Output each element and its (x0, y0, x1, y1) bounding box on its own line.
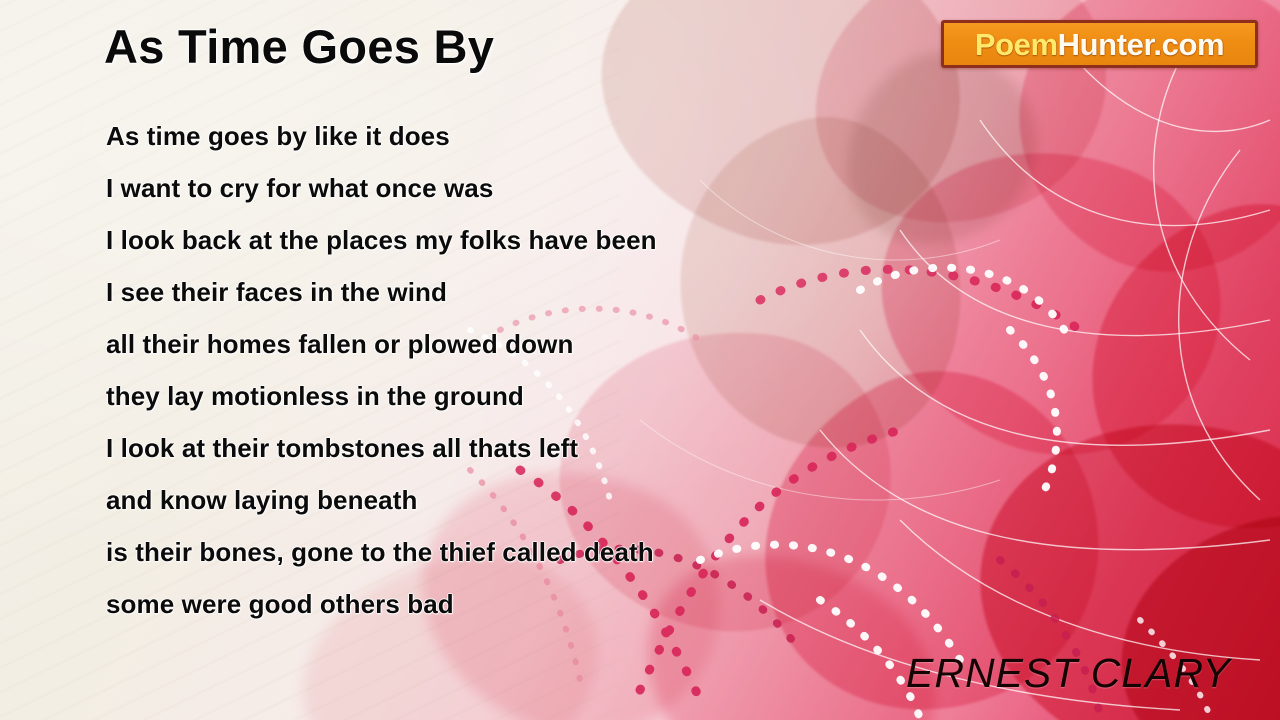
poem-line: I see their faces in the wind (106, 266, 1006, 318)
petal-shape (1048, 168, 1280, 571)
poem-line: they lay motionless in the ground (106, 370, 1006, 422)
poem-line: and know laying beneath (106, 474, 1006, 526)
poem-body: As time goes by like it does I want to c… (106, 110, 1006, 630)
author-name: ERNEST CLARY (906, 650, 1231, 697)
poem-line: I look at their tombstones all thats lef… (106, 422, 1006, 474)
poem-line: I look back at the places my folks have … (106, 214, 1006, 266)
logo-text-poem: Poem (975, 27, 1058, 62)
poem-line: all their homes fallen or plowed down (106, 318, 1006, 370)
logo-text-hunter: Hunter.com (1058, 27, 1225, 62)
logo-text: PoemHunter.com (975, 29, 1224, 60)
poemhunter-logo[interactable]: PoemHunter.com (941, 20, 1258, 68)
poem-line: some were good others bad (106, 578, 1006, 630)
page-title: As Time Goes By (104, 23, 494, 70)
poem-line: As time goes by like it does (106, 110, 1006, 162)
poem-line: I want to cry for what once was (106, 162, 1006, 214)
poem-line: is their bones, gone to the thief called… (106, 526, 1006, 578)
poem-poster: PoemHunter.com As Time Goes By As time g… (0, 0, 1280, 720)
